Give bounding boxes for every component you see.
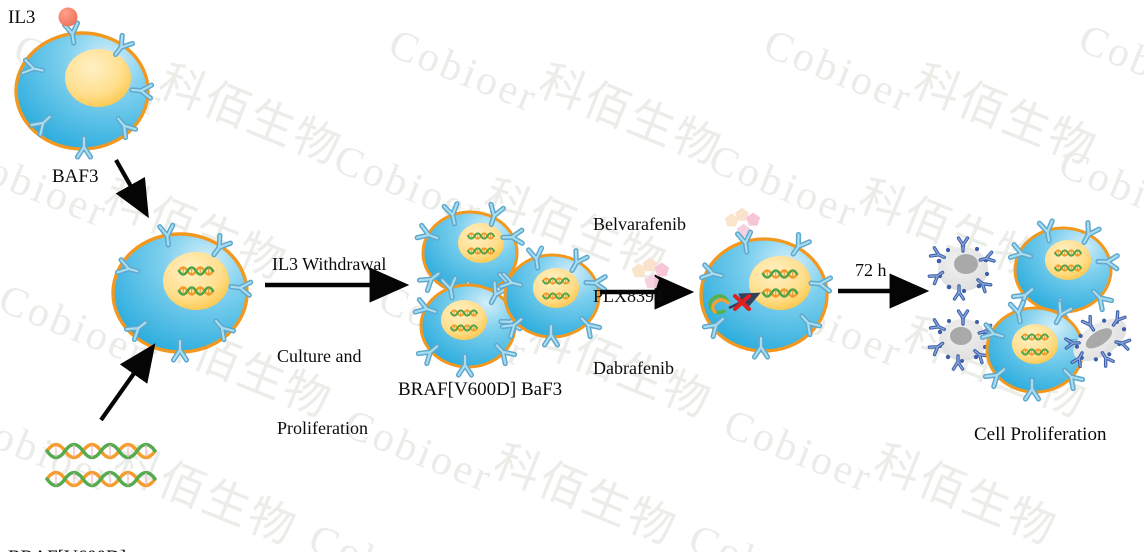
cell-drug-treated [701,232,830,357]
label-baf3: BAF3 [52,165,98,190]
label-72h: 72 h [855,259,887,282]
figure-canvas: Cobioer 科佰生物 Cobioer 科佰生物 Cobioer 科佰生物 C… [0,0,1144,552]
label-drug-list: Belvarafenib PLX8394 Dabrafenib [593,165,686,428]
label-braf-v600d-baf3: BRAF[V600D] BaF3 [398,378,562,403]
cell-live-2 [982,302,1089,399]
arrow-dna-to-transduced [101,348,152,420]
label-drug-dabrafenib: Dabrafenib [593,357,686,381]
label-culture-line1: Culture and [277,344,368,368]
label-culture-proliferation: Culture and Proliferation [277,295,368,489]
cells-readout [929,221,1141,399]
label-culture-line2: Proliferation [277,416,368,440]
label-il3-withdrawal: IL3 Withdrawal [272,253,386,276]
label-drug-belvarafenib: Belvarafenib [593,213,686,237]
il3-ligand-dot [59,8,78,27]
cell-transduced-braf [113,225,251,360]
label-drug-plx8394: PLX8394 [593,285,686,309]
label-braf-transduction-line1: BRAF[V600D] [8,546,126,552]
diagram-artwork [0,0,1144,552]
cell-apoptotic-1 [929,238,994,299]
cell-parental-baf3 [16,23,152,157]
arrow-baf3-to-transduced [116,160,146,213]
cell-apoptotic-2 [929,311,993,369]
label-il3: IL3 [8,6,35,31]
label-braf-transduction: BRAF[V600D] transduction [8,498,126,552]
cells-proliferating [415,204,605,375]
label-cell-proliferation: Cell Proliferation [974,423,1106,448]
cell-live-1 [1010,221,1117,319]
dna-construct-icon [47,445,155,486]
